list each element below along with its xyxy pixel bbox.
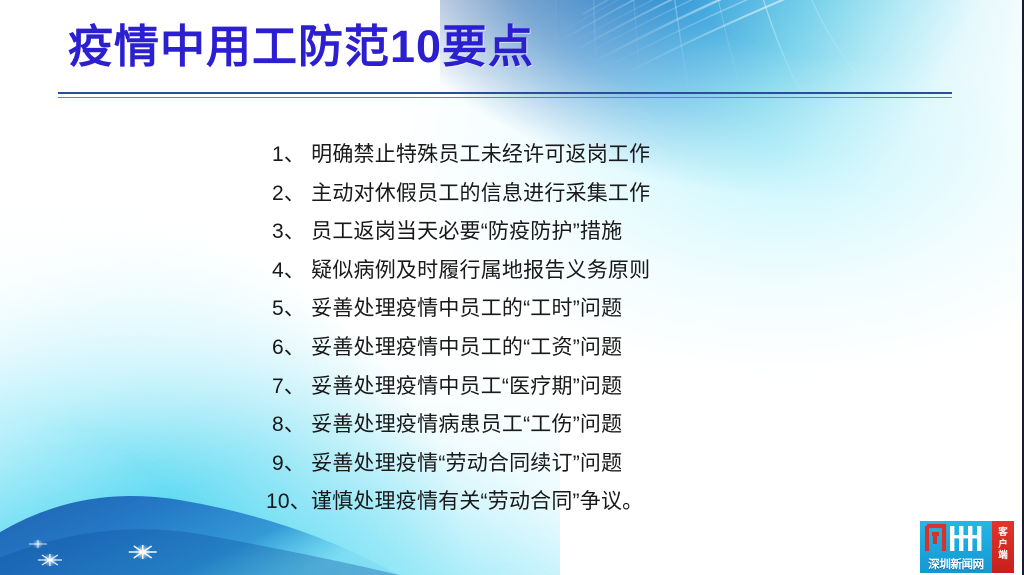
list-item: 5、 妥善处理疫情中员工的“工时”问题	[0, 290, 1022, 329]
logo-client-badge: 客 户 端	[992, 521, 1014, 573]
logo-mark-icon	[922, 522, 990, 555]
bullet-list: 1、 明确禁止特殊员工未经许可返岗工作 2、 主动对休假员工的信息进行采集工作 …	[0, 136, 1022, 522]
list-item: 2、 主动对休假员工的信息进行采集工作	[0, 175, 1022, 214]
presentation-slide: 疫情中用工防范10要点 1、 明确禁止特殊员工未经许可返岗工作 2、 主动对休假…	[0, 0, 1024, 575]
list-item: 6、 妥善处理疫情中员工的“工资”问题	[0, 329, 1022, 368]
list-item: 8、 妥善处理疫情病患员工“工伤”问题	[0, 406, 1022, 445]
list-item: 4、 疑似病例及时履行属地报告义务原则	[0, 252, 1022, 291]
divider-line-thin	[58, 97, 952, 98]
title-divider	[58, 92, 952, 99]
list-item: 9、 妥善处理疫情“劳动合同续订”问题	[0, 445, 1022, 484]
badge-char-2: 户	[992, 539, 1014, 551]
badge-char-1: 客	[992, 527, 1014, 539]
logo-panel: 深圳新闻网	[920, 521, 992, 573]
title-block: 疫情中用工防范10要点	[0, 22, 1022, 72]
page-title: 疫情中用工防范10要点	[0, 22, 1022, 72]
list-item: 7、 妥善处理疫情中员工“医疗期”问题	[0, 368, 1022, 407]
divider-line-thick	[58, 92, 952, 94]
list-item: 1、 明确禁止特殊员工未经许可返岗工作	[0, 136, 1022, 175]
logo-wordmark: 深圳新闻网	[920, 559, 992, 572]
list-item: 3、 员工返岗当天必要“防疫防护”措施	[0, 213, 1022, 252]
list-item: 10、谨慎处理疫情有关“劳动合同”争议。	[0, 483, 1022, 522]
shenzhen-news-logo: 深圳新闻网 客 户 端	[920, 521, 1016, 573]
badge-char-3: 端	[992, 550, 1014, 562]
